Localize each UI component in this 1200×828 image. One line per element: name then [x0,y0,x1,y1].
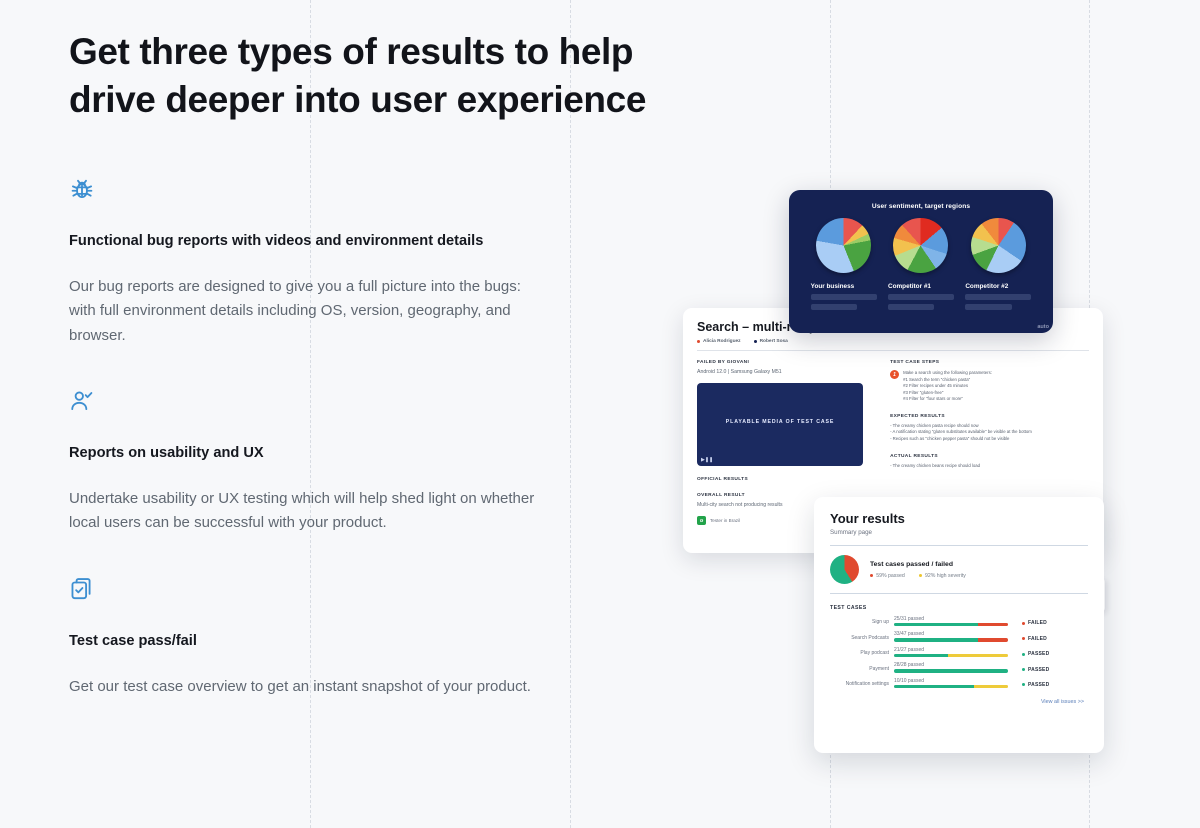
summary-row: Test cases passed / failed 59% passed 92… [830,555,1088,584]
status-badge: FAILED [1022,620,1047,626]
progress-bar [894,685,1008,688]
feature-title: Functional bug reports with videos and e… [69,232,629,251]
feature-title: Test case pass/fail [69,632,629,651]
actual-results-block: ACTUAL RESULTS - The creamy chicken bean… [890,454,1089,470]
expected-result-line: - Recipes such as "chicken pepper pasta"… [890,436,1089,443]
table-row: Payment 28/28 passed PASSED [830,662,1088,672]
bug-report-tags: Alicia Rodriguez Robert Sosa [697,339,1089,344]
bar-segment-passed [894,669,1008,672]
official-results-label: OFFICIAL RESULTS [697,477,874,482]
table-row: Search Podcasts 33/47 passed FAILED [830,631,1088,641]
divider [830,593,1088,594]
view-all-issues-link[interactable]: View all issues >> [830,699,1088,705]
status-dot-icon [1022,637,1025,640]
table-row: Notification settings 10/10 passed PASSE… [830,678,1088,688]
sentiment-card-corner-tag: auto [1037,324,1049,330]
progress-bar [894,623,1008,626]
sentiment-card-title: User sentiment, target regions [789,203,1053,210]
placeholder-bar [965,304,1011,310]
progress-bar [894,638,1008,641]
case-bar-wrapper: 10/10 passed [894,678,1008,688]
tag-label: Alicia Rodriguez [703,339,741,344]
expected-results-lines: - The creamy chicken pasta recipe should… [890,423,1089,443]
legend-item-high-severity: 92% high severity [919,573,966,579]
pie-label: Competitor #1 [888,283,954,290]
status-label: PASSED [1028,667,1049,673]
status-badge: FAILED [1022,636,1047,642]
tag-label: Robert Sosa [760,339,788,344]
expected-result-line: - The creamy chicken pasta recipe should… [890,423,1089,430]
legend-dot-icon [870,574,873,577]
case-name: Play podcast [830,650,894,657]
feature-title: Reports on usability and UX [69,444,629,463]
tag-robert-sosa[interactable]: Robert Sosa [754,339,788,344]
status-dot-icon [1022,622,1025,625]
user-check-icon [69,388,95,414]
table-row: Sign up 25/31 passed FAILED [830,616,1088,626]
case-name: Sign up [830,619,894,626]
bar-segment-severity [948,654,1008,657]
feature-bug-reports: Functional bug reports with videos and e… [69,176,629,348]
status-label: PASSED [1028,682,1049,688]
case-fraction: 10/10 passed [894,678,1008,684]
pie-chart-group: Your business Competitor #1 Competitor #… [789,210,1053,310]
page-title: Get three types of results to help drive… [69,28,719,124]
case-name: Payment [830,666,894,673]
bar-segment-severity [974,685,1008,688]
status-badge: PASSED [1022,667,1049,673]
tag-alicia-rodriguez[interactable]: Alicia Rodriguez [697,339,741,344]
results-title: Your results [830,511,1088,526]
pie-block-your-business: Your business [811,218,877,310]
step-number-badge: 1 [890,370,899,379]
clipboard-check-icon [69,576,95,602]
video-placeholder-label: PLAYABLE MEDIA OF TEST CASE [697,419,863,425]
bar-segment-failed [978,638,1008,641]
page-root: Get three types of results to help drive… [0,0,1200,828]
table-row: Play podcast 21/27 passed PASSED [830,647,1088,657]
results-card: Your results Summary page Test cases pas… [814,497,1104,753]
actual-results-lines: - The creamy chicken beans recipe should… [890,463,1089,470]
avatar: G [697,516,706,525]
pie-chart-passed-failed [830,555,859,584]
tag-dot-icon [697,340,700,343]
play-pause-icon[interactable]: ▶❚❚ [701,457,713,463]
tester-name: Tester in Brazil [710,518,740,523]
status-dot-icon [1022,653,1025,656]
content-column: Get three types of results to help drive… [69,28,629,739]
bar-segment-passed [894,685,974,688]
step-lines: Make a search using the following parame… [903,370,992,403]
sentiment-card: User sentiment, target regions Your busi… [789,190,1053,333]
bug-icon [69,176,95,202]
feature-test-case-pass-fail: Test case pass/fail Get our test case ov… [69,576,629,699]
step-line: #4 Filter for "four stars or more" [903,396,992,403]
case-fraction: 21/27 passed [894,647,1008,653]
pie-label: Competitor #2 [965,283,1031,290]
case-fraction: 25/31 passed [894,616,1008,622]
status-label: FAILED [1028,620,1047,626]
step-line: Make a search using the following parame… [903,370,992,377]
pie-chart-your-business [816,218,871,273]
legend-label: 59% passed [876,573,905,579]
status-label: PASSED [1028,651,1049,657]
legend-item-passed: 59% passed [870,573,905,579]
bar-segment-failed [978,623,1008,626]
bar-segment-passed [894,623,978,626]
divider [830,545,1088,546]
pie-chart-competitor-1 [893,218,948,273]
feature-description: Get our test case overview to get an ins… [69,675,544,699]
legend-dot-icon [919,574,922,577]
case-bar-wrapper: 25/31 passed [894,616,1008,626]
status-label: FAILED [1028,636,1047,642]
feature-description: Undertake usability or UX testing which … [69,487,544,536]
tester-info: G Tester in Brazil [697,516,740,525]
feature-description: Our bug reports are designed to give you… [69,275,544,348]
test-case-step: 1 Make a search using the following para… [890,370,1089,403]
failed-by-label: FAILED BY GIOVANI [697,360,874,365]
progress-bar [894,669,1008,672]
pie-block-competitor-2: Competitor #2 [965,218,1031,310]
pie-block-competitor-1: Competitor #1 [888,218,954,310]
bar-segment-passed [894,654,948,657]
case-bar-wrapper: 28/28 passed [894,662,1008,672]
results-subtitle: Summary page [830,529,1088,536]
bar-segment-passed [894,638,978,641]
placeholder-bar [811,294,877,300]
status-dot-icon [1022,668,1025,671]
placeholder-bar [888,294,954,300]
feature-usability-reports: Reports on usability and UX Undertake us… [69,388,629,536]
test-cases-label: TEST CASES [830,605,1088,611]
summary-text-block: Test cases passed / failed 59% passed 92… [870,561,966,579]
case-name: Search Podcasts [830,635,894,642]
case-bar-wrapper: 21/27 passed [894,647,1008,657]
test-case-steps-label: TEST CASE STEPS [890,360,1089,365]
tag-dot-icon [754,340,757,343]
legend: 59% passed 92% high severity [870,573,966,579]
divider [697,350,1089,351]
pie-label: Your business [811,283,877,290]
expected-results-label: EXPECTED RESULTS [890,414,1089,419]
actual-results-label: ACTUAL RESULTS [890,454,1089,459]
actual-result-line: - The creamy chicken beans recipe should… [890,463,1089,470]
legend-label: 92% high severity [925,573,966,579]
status-dot-icon [1022,683,1025,686]
device-info: Android 12.0 | Samsung Galaxy M51 [697,369,874,375]
case-fraction: 28/28 passed [894,662,1008,668]
placeholder-bar [965,294,1031,300]
expected-results-block: EXPECTED RESULTS - The creamy chicken pa… [890,414,1089,443]
official-results-block: OFFICIAL RESULTS [697,477,874,482]
expected-result-line: - A notification stating "gluten substit… [890,429,1089,436]
status-badge: PASSED [1022,651,1049,657]
progress-bar [894,654,1008,657]
placeholder-bar [811,304,857,310]
case-bar-wrapper: 33/47 passed [894,631,1008,641]
case-name: Notification settings [830,681,894,688]
case-fraction: 33/47 passed [894,631,1008,637]
placeholder-bar [888,304,934,310]
status-badge: PASSED [1022,682,1049,688]
pie-chart-competitor-2 [971,218,1026,273]
summary-title: Test cases passed / failed [870,561,966,568]
video-player[interactable]: PLAYABLE MEDIA OF TEST CASE ▶❚❚ [697,383,863,466]
